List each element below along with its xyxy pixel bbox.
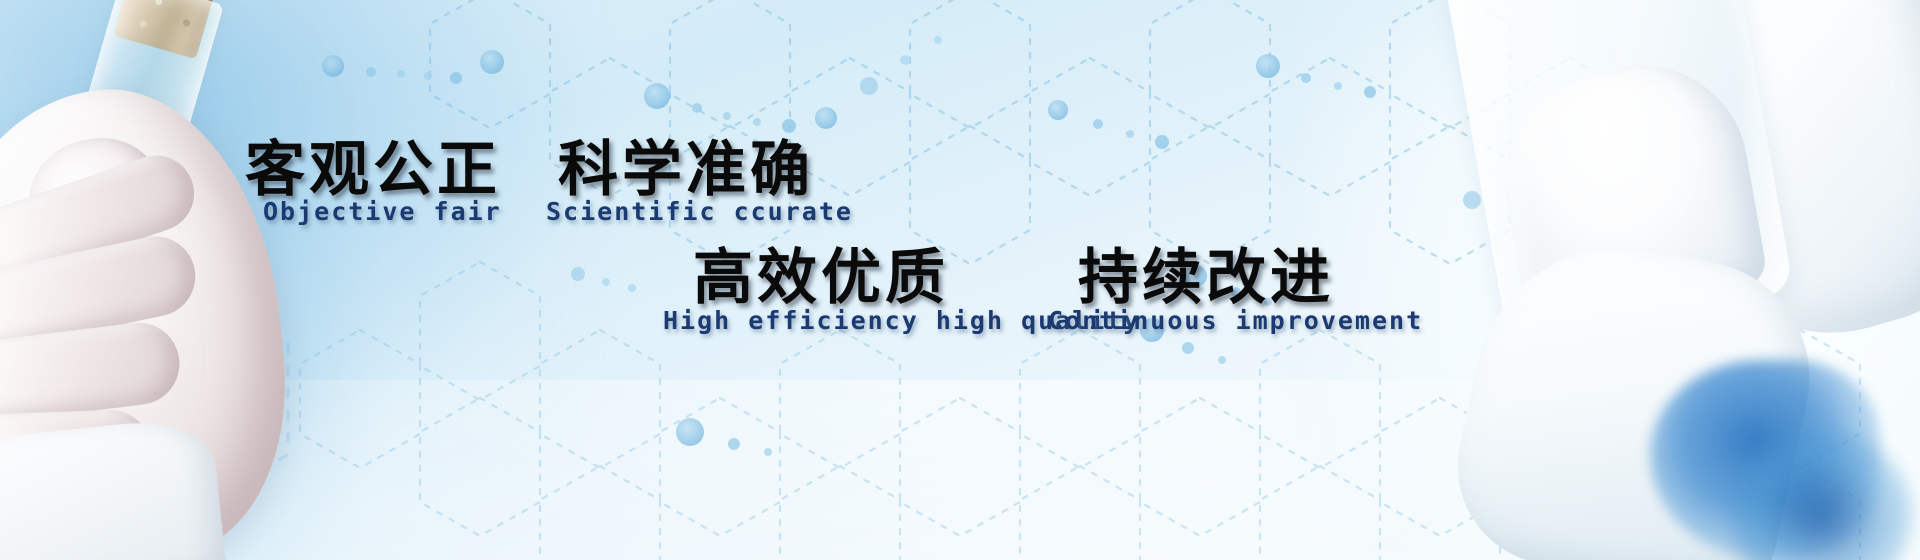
slogan-objective-fair-cn: 客观公正 xyxy=(245,140,501,200)
slogan-group: 客观公正 Objective fair 科学准确 Scientific ccur… xyxy=(0,0,1920,560)
slogan-scientific-accurate-en: Scientific ccurate xyxy=(546,199,853,224)
slogan-high-efficiency-cn: 高效优质 xyxy=(693,248,949,308)
slogan-scientific-accurate-cn: 科学准确 xyxy=(558,140,814,200)
slogan-continuous-improvement-cn: 持续改进 xyxy=(1078,248,1334,308)
slogan-objective-fair-en: Objective fair xyxy=(263,199,502,224)
lab-quality-banner: 客观公正 Objective fair 科学准确 Scientific ccur… xyxy=(0,0,1920,560)
slogan-continuous-improvement-en: Continuous improvement xyxy=(1048,308,1423,333)
